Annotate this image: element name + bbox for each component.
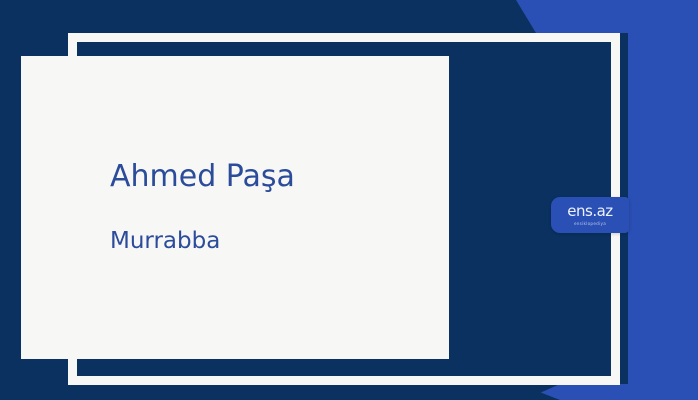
bottom-navy-band bbox=[0, 386, 560, 400]
slide-canvas: Ahmed Paşa Murrabba ens.az ensiklopediya bbox=[0, 0, 698, 400]
content-card-text-block: Ahmed Paşa Murrabba bbox=[110, 56, 425, 359]
content-card: Ahmed Paşa Murrabba bbox=[21, 56, 449, 359]
ens-az-logo[interactable]: ens.az ensiklopediya bbox=[551, 197, 629, 233]
page-title: Ahmed Paşa bbox=[110, 160, 425, 193]
logo-wordmark: ens.az bbox=[567, 204, 612, 219]
page-subtitle: Murrabba bbox=[110, 229, 425, 254]
logo-tagline: ensiklopediya bbox=[574, 222, 606, 226]
